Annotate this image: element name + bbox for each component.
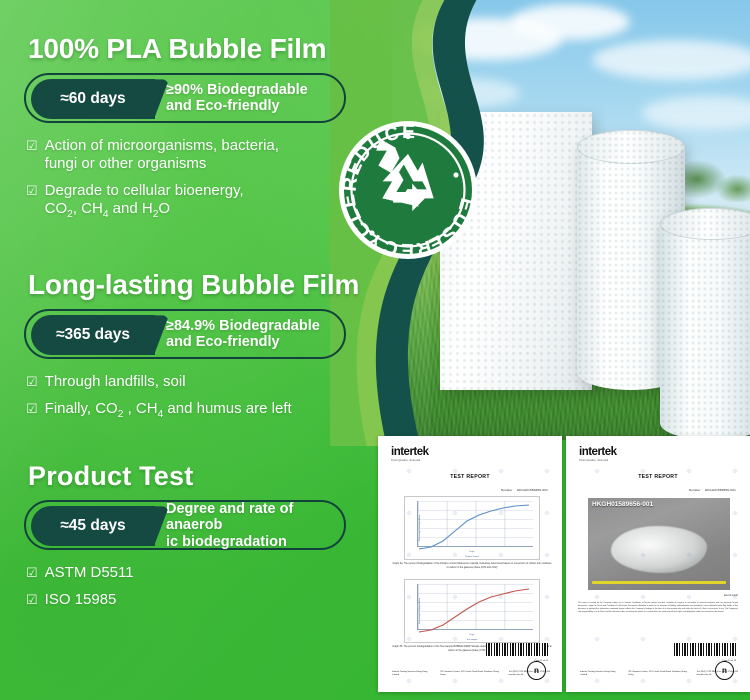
chart-ylabel: Percentage biodegradation xyxy=(419,515,421,541)
disclaimer-text: This report is issued by the Company sub… xyxy=(578,602,738,614)
ruler xyxy=(592,581,726,584)
section-pla-bubble-film: 100% PLA Bubble Film ≈60 days ≥90% Biode… xyxy=(0,34,392,231)
footer-address: 2/F Garment Centre, 576 Castle Peak Road… xyxy=(628,671,688,678)
bullet-text: Degrade to cellular bioenergy,CO2, CH4 a… xyxy=(45,182,244,221)
list-item: ☑ Degrade to cellular bioenergy,CO2, CH4… xyxy=(26,182,392,221)
chart-xlabel: Days xyxy=(405,634,539,636)
bullet-list: ☑ ASTM D5511 ☑ ISO 15985 xyxy=(26,564,392,609)
footer-address: 2/F Garment Centre, 576 Castle Peak Road… xyxy=(440,671,500,678)
bullet-text: Finally, CO2 , CH4 and humus are left xyxy=(45,400,292,421)
list-item: ☑ ASTM D5511 xyxy=(26,564,392,582)
ukas-accreditation-icon: n xyxy=(715,661,734,680)
chart-xlabel: Days xyxy=(405,551,539,553)
footer-company: Intertek Testing Services Hong Kong Limi… xyxy=(580,671,620,678)
pill-claim-line1: ≥84.9% Biodegradable xyxy=(166,318,320,335)
pill-claim-text: ≥90% Biodegradable and Eco-friendly xyxy=(166,82,308,115)
infographic-root: REDUCE REUSE RECYCLE 100 xyxy=(0,0,750,700)
list-item: ☑ Through landfills, soil xyxy=(26,373,392,391)
chart-legend: Positive control xyxy=(405,556,539,558)
barcode xyxy=(674,643,736,656)
bullet-text: Through landfills, soil xyxy=(45,373,186,391)
barcode xyxy=(486,643,548,656)
test-report-documents: intertek Total Quality. Assured. TEST RE… xyxy=(378,436,750,700)
pill-days-label: ≈45 days xyxy=(60,517,125,535)
list-item: ☑ Action of microorganisms, bacteria,fun… xyxy=(26,137,392,173)
pill-days-label: ≈60 days xyxy=(60,90,125,108)
plastic-film-sample xyxy=(611,526,708,574)
bubble-film-roll-front xyxy=(660,208,750,440)
end-of-report-text: End of report xyxy=(724,594,738,597)
intertek-wordmark: intertek xyxy=(579,446,617,458)
pill-days-label: ≈365 days xyxy=(56,326,130,344)
section-title: 100% PLA Bubble Film xyxy=(28,34,392,63)
report-heading: TEST REPORT xyxy=(378,474,562,480)
report-heading: TEST REPORT xyxy=(566,474,750,480)
chart-positive-control: Percentage biodegradation Days Positive … xyxy=(404,496,540,560)
pill-claim-line2: and Eco-friendly xyxy=(166,334,320,351)
footer-company: Intertek Testing Services Hong Kong Limi… xyxy=(392,671,432,678)
report-number: Number HKGH01589656-001 xyxy=(689,488,736,492)
test-report-page-12[interactable]: intertek Total Quality. Assured. TEST RE… xyxy=(566,436,750,692)
pill-claim-line1: ≥90% Biodegradable xyxy=(166,82,308,99)
intertek-logo: intertek Total Quality. Assured. xyxy=(579,446,617,462)
checkbox-check-icon: ☑ xyxy=(26,374,38,390)
bullet-text: ASTM D5511 xyxy=(45,564,134,582)
pill-claim-text: Degree and rate of anaerob ic biodegrada… xyxy=(166,501,344,551)
pill-claim-line2: and Eco-friendly xyxy=(166,98,308,115)
checkbox-check-icon: ☑ xyxy=(26,183,38,199)
list-item: ☑ Finally, CO2 , CH4 and humus are left xyxy=(26,400,392,421)
claim-pill: ≈60 days ≥90% Biodegradable and Eco-frie… xyxy=(24,73,346,123)
list-item: ☑ ISO 15985 xyxy=(26,591,392,609)
bullet-list: ☑ Action of microorganisms, bacteria,fun… xyxy=(26,137,392,221)
pill-claim-line2: ic biodegradation xyxy=(166,534,344,551)
ukas-accreditation-icon: n xyxy=(527,661,546,680)
bullet-list: ☑ Through landfills, soil ☑ Finally, CO2… xyxy=(26,373,392,421)
intertek-tagline: Total Quality. Assured. xyxy=(579,459,617,462)
chart-legend: Test sample xyxy=(405,639,539,641)
chart-test-sample: Percentage biodegradation Days Test samp… xyxy=(404,579,540,643)
intertek-logo: intertek Total Quality. Assured. xyxy=(391,446,429,462)
section-title: Long-lasting Bubble Film xyxy=(28,270,392,299)
checkbox-check-icon: ☑ xyxy=(26,138,38,154)
claim-pill: ≈365 days ≥84.9% Biodegradable and Eco-f… xyxy=(24,309,346,359)
chart-caption: Graph 3a: The percent biodegradation of … xyxy=(392,562,552,569)
pill-duration-cap: ≈60 days xyxy=(31,79,155,119)
intertek-tagline: Total Quality. Assured. xyxy=(391,459,429,462)
pill-claim-text: ≥84.9% Biodegradable and Eco-friendly xyxy=(166,318,320,351)
bullet-text: ISO 15985 xyxy=(45,591,117,609)
section-title: Product Test xyxy=(28,462,392,490)
sample-id-label: HKGH01589656-001 xyxy=(592,501,653,508)
test-report-page-11[interactable]: intertek Total Quality. Assured. TEST RE… xyxy=(378,436,562,692)
sample-photograph: HKGH01589656-001 xyxy=(588,498,730,590)
pill-claim-line1: Degree and rate of anaerob xyxy=(166,501,344,534)
checkbox-check-icon: ☑ xyxy=(26,592,38,608)
bullet-text: Action of microorganisms, bacteria,fungi… xyxy=(45,137,279,173)
chart-ylabel: Percentage biodegradation xyxy=(419,598,421,624)
pill-duration-cap: ≈45 days xyxy=(31,506,155,546)
report-number: Number HKGH01589656-001 xyxy=(501,488,548,492)
checkbox-check-icon: ☑ xyxy=(26,565,38,581)
section-long-lasting-bubble-film: Long-lasting Bubble Film ≈365 days ≥84.9… xyxy=(0,270,392,431)
pill-duration-cap: ≈365 days xyxy=(31,315,155,355)
claim-pill: ≈45 days Degree and rate of anaerob ic b… xyxy=(24,500,346,550)
intertek-wordmark: intertek xyxy=(391,446,429,458)
checkbox-check-icon: ☑ xyxy=(26,401,38,417)
section-product-test: Product Test ≈45 days Degree and rate of… xyxy=(0,462,392,618)
